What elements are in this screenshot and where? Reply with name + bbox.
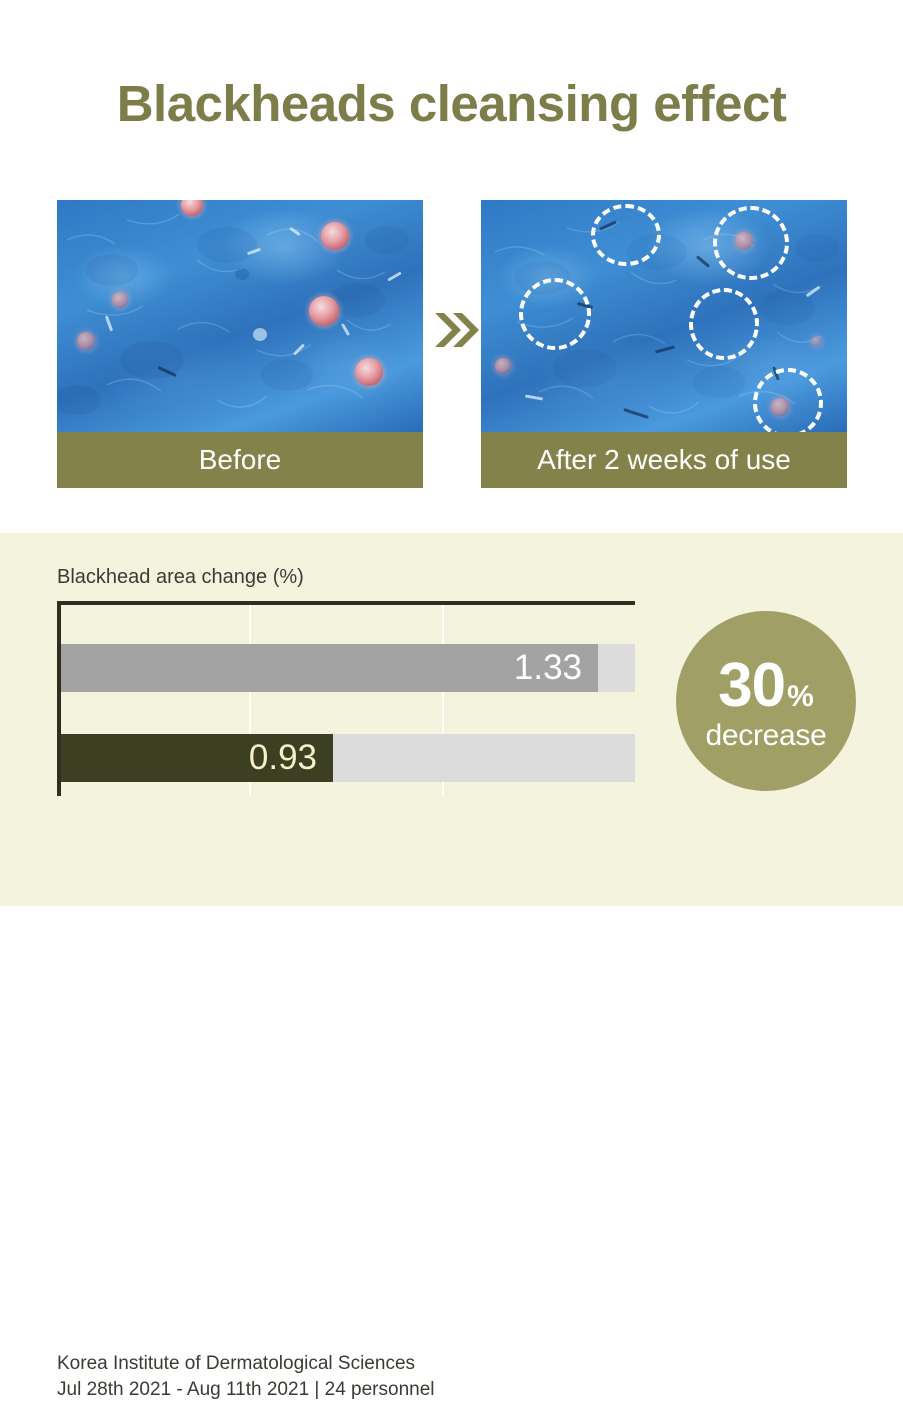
bar-track-after: 0.93 — [61, 734, 635, 782]
bar-after: 0.93 — [61, 734, 333, 782]
after-photo — [481, 200, 847, 432]
highlight-circle — [753, 368, 823, 432]
after-photo-caption: After 2 weeks of use — [481, 432, 847, 488]
blackhead-spot — [112, 292, 128, 308]
highlight-circle — [713, 206, 789, 280]
bar-before: 1.33 — [61, 644, 598, 692]
badge-caption: decrease — [705, 719, 826, 753]
badge-value: 30 — [718, 655, 785, 717]
page-title: Blackheads cleansing effect — [0, 74, 903, 133]
blackhead-spot — [321, 222, 349, 250]
blackhead-spot — [811, 336, 822, 347]
blackhead-area-change-chart: 1.33 0.93 — [57, 601, 635, 796]
blackhead-spot — [495, 358, 511, 374]
highlight-circle — [519, 278, 591, 350]
chart-axis-top — [57, 601, 635, 605]
after-photo-card: After 2 weeks of use — [481, 200, 847, 488]
double-chevron-right-icon — [432, 308, 480, 352]
study-footnote: Korea Institute of Dermatological Scienc… — [57, 1351, 435, 1403]
badge-value-row: 30 % — [718, 655, 814, 717]
highlight-circle — [689, 288, 759, 360]
pore-blot — [235, 268, 249, 280]
blackhead-spot — [355, 358, 383, 386]
before-photo-caption: Before — [57, 432, 423, 488]
before-photo — [57, 200, 423, 432]
badge-unit: % — [787, 682, 814, 712]
hero-section: Blackheads cleansing effect — [0, 0, 903, 533]
highlight-circle — [591, 204, 661, 266]
bar-track-before: 1.33 — [61, 644, 635, 692]
skin-texture-overlay — [57, 200, 423, 432]
blackhead-spot — [77, 332, 95, 350]
before-photo-card: Before — [57, 200, 423, 488]
chart-title: Blackhead area change (%) — [57, 566, 304, 589]
pore-blot — [253, 328, 267, 341]
decrease-badge: 30 % decrease — [676, 611, 856, 791]
blackhead-spot — [309, 296, 339, 326]
